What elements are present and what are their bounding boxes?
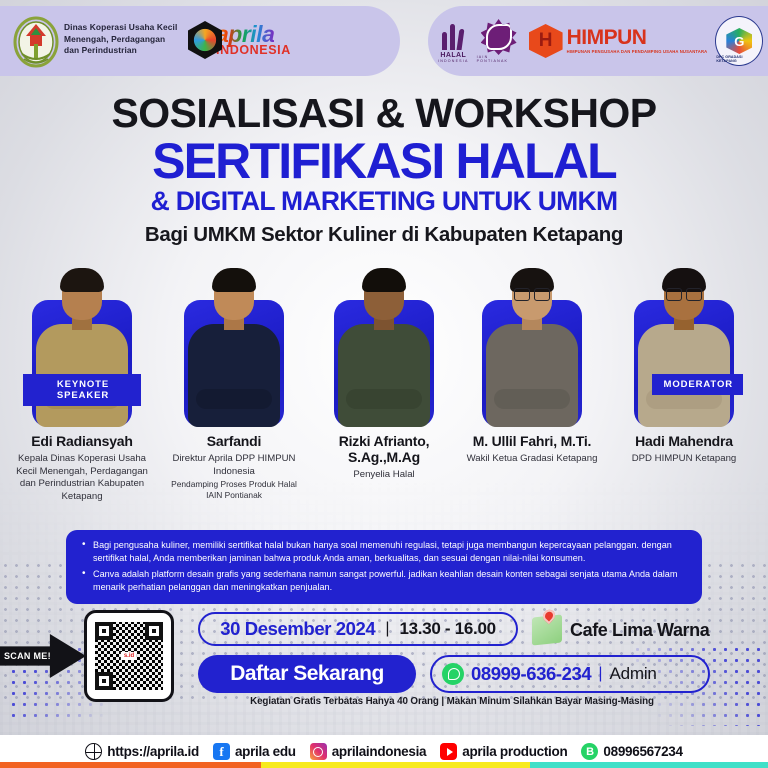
- garuda-emblem-icon: [12, 16, 60, 68]
- stripe-yellow: [261, 762, 530, 768]
- dinas-title: Dinas Koperasi Usaha Kecil Menengah, Per…: [64, 22, 180, 57]
- speaker-portrait-2: [175, 262, 293, 427]
- gradasi-ketapang-logo: G DPC GRADASI KETAPANG: [715, 16, 763, 66]
- scan-me-arrow: SCAN ME!: [0, 634, 86, 678]
- registration-note: Kegiatan Gratis Terbatas Hanya 40 Orang …: [192, 696, 712, 707]
- speaker-portrait-5: [625, 262, 743, 427]
- speakers-row: KEYNOTE SPEAKER Edi Radiansyah Kepala Di…: [0, 262, 768, 527]
- footer-item-whatsapp[interactable]: B 08996567234: [581, 743, 682, 760]
- speaker-portrait-3: [325, 262, 443, 427]
- himpun-logo: H HIMPUN HIMPUNAN PENGUSAHA DAN PENDAMPI…: [529, 24, 708, 58]
- aprila-logo: aprila INDONESIA: [188, 17, 296, 63]
- info-bullets-panel: Bagi pengusaha kuliner, memiliki sertifi…: [66, 530, 702, 604]
- footer-label-website: https://aprila.id: [107, 744, 199, 759]
- title-line-3: & DIGITAL MARKETING UNTUK UMKM: [0, 188, 768, 216]
- bullet-item-2: Canva adalah platform desain grafis yang…: [80, 568, 688, 594]
- footer-color-stripe: [0, 762, 768, 768]
- contact-phone[interactable]: 08999-636-234: [471, 663, 591, 685]
- partner-logos: HALAL INDONESIA IAIN PONTIANAK H HIMPUN …: [438, 10, 768, 72]
- whatsapp-contact-pill[interactable]: 08999-636-234 | Admin: [430, 655, 710, 693]
- speaker-name-4: M. Ullil Fahri, M.Ti.: [462, 433, 602, 449]
- speaker-card-4: M. Ullil Fahri, M.Ti. Wakil Ketua Gradas…: [462, 262, 602, 466]
- keynote-speaker-badge: KEYNOTE SPEAKER: [23, 374, 141, 406]
- gradasi-letter: G: [734, 34, 744, 49]
- speaker-card-2: Sarfandi Direktur Aprila DPP HIMPUN Indo…: [164, 262, 304, 501]
- aprila-sub: INDONESIA: [216, 44, 291, 57]
- halal-indonesia-cap: HALAL: [440, 52, 466, 59]
- halal-center-sub: IAIN PONTIANAK: [477, 55, 521, 63]
- footer-item-website[interactable]: https://aprila.id: [85, 743, 199, 760]
- speaker-card-3: Rizki Afrianto, S.Ag.,M.Ag Penyelia Hala…: [314, 262, 454, 482]
- event-date: 30 Desember 2024: [220, 618, 375, 640]
- date-time-pill: 30 Desember 2024 | 13.30 - 16.00: [198, 612, 518, 646]
- speaker-name-5: Hadi Mahendra: [614, 433, 754, 449]
- title-subtitle: Bagi UMKM Sektor Kuliner di Kabupaten Ke…: [0, 223, 768, 247]
- speaker-photo-5: MODERATOR: [625, 262, 743, 427]
- whatsapp-icon: [442, 663, 464, 685]
- bullet-item-1: Bagi pengusaha kuliner, memiliki sertifi…: [80, 539, 688, 565]
- title-line-1: SOSIALISASI & WORKSHOP: [0, 92, 768, 135]
- qr-code-label: s.id: [121, 652, 137, 660]
- speaker-portrait-4: [473, 262, 591, 427]
- title-block: SOSIALISASI & WORKSHOP SERTIFIKASI HALAL…: [0, 92, 768, 247]
- speaker-role-1: Kepala Dinas Koperasi Usaha Kecil Meneng…: [12, 453, 152, 504]
- date-time-separator: |: [385, 620, 389, 638]
- facebook-icon: f: [213, 743, 230, 760]
- stripe-orange: [0, 762, 261, 768]
- halal-center-iain-pontianak-logo: IAIN PONTIANAK: [477, 18, 521, 64]
- speaker-card-1: KEYNOTE SPEAKER Edi Radiansyah Kepala Di…: [12, 262, 152, 504]
- qr-code-icon[interactable]: s.id: [95, 622, 163, 690]
- himpun-icon: H: [529, 24, 563, 58]
- gradasi-sub: DPC GRADASI KETAPANG: [716, 55, 762, 63]
- stripe-teal: [530, 762, 768, 768]
- himpun-wordmark: HIMPUN: [567, 26, 647, 49]
- footer-label-whatsapp: 08996567234: [603, 744, 682, 759]
- footer-item-facebook[interactable]: f aprila edu: [213, 743, 296, 760]
- glasses-icon: [514, 288, 550, 299]
- footer-label-instagram: aprilaindonesia: [332, 744, 427, 759]
- contact-role: Admin: [609, 664, 656, 684]
- speaker-role-5: DPD HIMPUN Ketapang: [614, 453, 754, 466]
- speaker-name-2: Sarfandi: [164, 433, 304, 449]
- youtube-icon: [440, 743, 457, 760]
- speaker-role-3: Penyelia Halal: [314, 469, 454, 482]
- moderator-badge: MODERATOR: [652, 374, 744, 395]
- speaker-photo-2: [175, 262, 293, 427]
- register-button[interactable]: Daftar Sekarang: [198, 655, 416, 693]
- speaker-photo-1: KEYNOTE SPEAKER: [23, 262, 141, 427]
- globe-icon: [85, 743, 102, 760]
- registration-block: SCAN ME! s.id 30 Desember 2024 | 13.30 -…: [62, 608, 710, 706]
- halal-indonesia-sub: INDONESIA: [438, 59, 469, 63]
- speaker-card-5: MODERATOR Hadi Mahendra DPD HIMPUN Ketap…: [614, 262, 754, 466]
- halal-indonesia-icon: [440, 20, 466, 50]
- poster-canvas: Dinas Koperasi Usaha Kecil Menengah, Per…: [0, 0, 768, 768]
- phone-separator: |: [598, 665, 602, 683]
- instagram-icon: [310, 743, 327, 760]
- qr-code-box[interactable]: s.id: [84, 610, 174, 702]
- halal-indonesia-logo: HALAL INDONESIA: [438, 20, 469, 63]
- speaker-role-2-extra: Pendamping Proses Produk Halal IAIN Pont…: [164, 479, 304, 501]
- whatsapp-icon: B: [581, 743, 598, 760]
- glasses-icon: [666, 288, 702, 299]
- himpun-sub: HIMPUNAN PENGUSAHA DAN PENDAMPING USAHA …: [567, 49, 708, 55]
- header: Dinas Koperasi Usaha Kecil Menengah, Per…: [0, 0, 768, 82]
- speaker-photo-4: [473, 262, 591, 427]
- footer-label-youtube: aprila production: [462, 744, 567, 759]
- scan-me-label: SCAN ME!: [4, 651, 51, 661]
- title-line-2: SERTIFIKASI HALAL: [0, 137, 768, 185]
- speaker-name-1: Edi Radiansyah: [12, 433, 152, 449]
- speaker-role-2: Direktur Aprila DPP HIMPUN Indonesia: [164, 453, 304, 478]
- speaker-photo-3: [325, 262, 443, 427]
- footer-item-youtube[interactable]: aprila production: [440, 743, 567, 760]
- venue-name: Cafe Lima Warna: [570, 620, 709, 641]
- speaker-name-3: Rizki Afrianto, S.Ag.,M.Ag: [314, 433, 454, 465]
- footer-item-instagram[interactable]: aprilaindonesia: [310, 743, 427, 760]
- halal-center-icon: [481, 19, 517, 55]
- speaker-role-4: Wakil Ketua Gradasi Ketapang: [462, 453, 602, 466]
- event-time: 13.30 - 16.00: [399, 619, 495, 639]
- footer-label-facebook: aprila edu: [235, 744, 296, 759]
- venue-block: Cafe Lima Warna: [532, 616, 709, 644]
- map-pin-icon: [532, 614, 562, 645]
